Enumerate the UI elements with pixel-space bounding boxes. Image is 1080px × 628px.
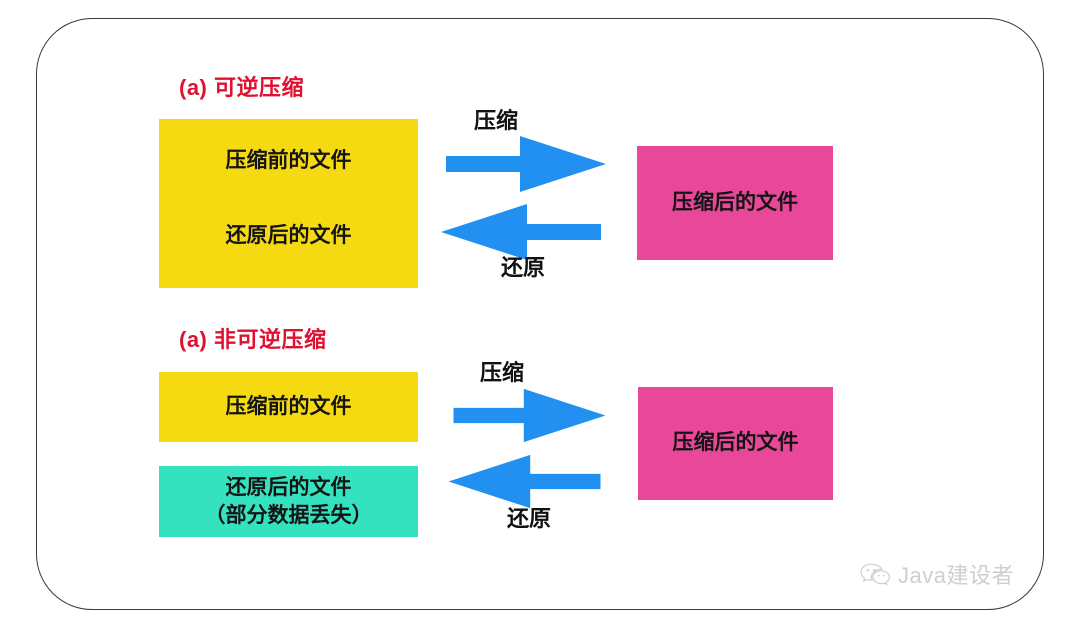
arrow-right-compress-lossless — [446, 134, 606, 194]
compressed-file-label: 压缩后的文件 — [673, 429, 799, 457]
section-title-lossless: (a) 可逆压缩 — [179, 70, 304, 102]
compressed-file-box-lossy: 压缩后的文件 — [638, 387, 833, 500]
compressed-file-label: 压缩后的文件 — [672, 189, 798, 217]
restored-file-label: 还原后的文件 — [226, 474, 352, 501]
source-file-label-restored: 还原后的文件 — [226, 222, 352, 250]
section-title-lossy: (a) 非可逆压缩 — [179, 322, 327, 354]
restored-file-box-lossy: 还原后的文件 （部分数据丢失） — [159, 466, 418, 537]
arrow-right-compress-lossy — [452, 387, 607, 444]
diagram-frame: (a) 可逆压缩 压缩前的文件 还原后的文件 压缩后的文件 压缩 还原 (a) … — [36, 18, 1044, 610]
source-file-box-lossless: 压缩前的文件 还原后的文件 — [159, 119, 418, 288]
arrow-label-compress-lossy: 压缩 — [480, 355, 524, 387]
restored-file-note-data-loss: （部分数据丢失） — [205, 502, 373, 529]
watermark-text: Java建设者 — [898, 558, 1014, 590]
arrow-label-restore-lossy: 还原 — [507, 501, 551, 533]
source-file-label-before: 压缩前的文件 — [226, 147, 352, 175]
compressed-file-box-lossless: 压缩后的文件 — [637, 146, 833, 260]
arrow-label-restore-lossless: 还原 — [501, 250, 545, 282]
source-file-label-before: 压缩前的文件 — [226, 393, 352, 421]
source-file-box-lossy: 压缩前的文件 — [159, 372, 418, 442]
watermark: Java建设者 — [860, 558, 1014, 590]
wechat-icon — [860, 562, 890, 586]
arrow-label-compress-lossless: 压缩 — [474, 103, 518, 135]
